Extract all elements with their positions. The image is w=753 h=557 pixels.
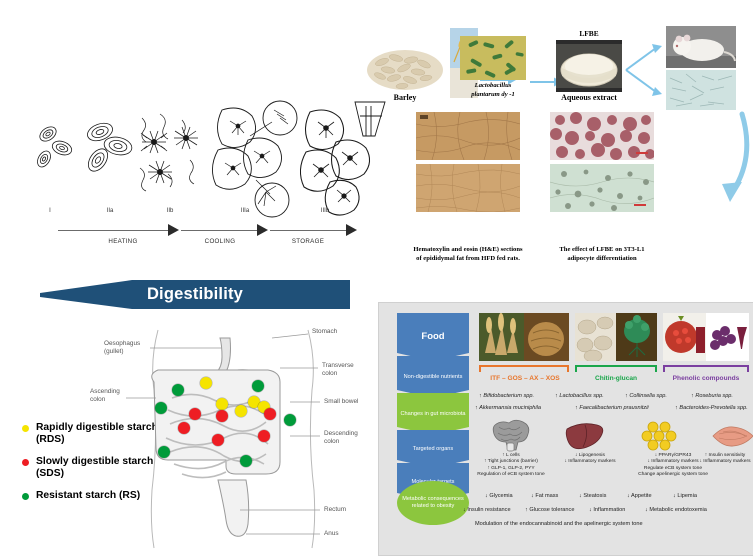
phenolic-food-image bbox=[663, 313, 749, 361]
barley-grains-photo bbox=[366, 30, 444, 92]
cascade-chevron-label-1: Non-digestible nutrients bbox=[397, 356, 469, 398]
muscle-glyph bbox=[711, 425, 753, 447]
microbiota-row1-item2: ↑ Lactobacillus spp. bbox=[555, 393, 604, 399]
microbiota-row2-item2: ↑ Faecalibacterium prausnitzii bbox=[575, 405, 649, 411]
label-stomach: Stomach bbox=[312, 328, 337, 336]
food-photo-itf bbox=[479, 313, 569, 361]
microbiota-row1-item4: ↑ Roseburia spp. bbox=[691, 393, 733, 399]
metabolic-row1-item3: ↓ Steatosis bbox=[579, 493, 606, 499]
starch-gelatinisation-diagram: I IIa IIb IIIa IIIb HEATING COOLING STOR… bbox=[0, 96, 390, 256]
starch-dot bbox=[158, 446, 170, 458]
mol-muscle-2: ↓ Inflammatory markers bbox=[679, 459, 753, 465]
bracket-chitin bbox=[575, 365, 657, 372]
rectum-shape bbox=[218, 480, 249, 536]
aqueous-extract-photo bbox=[556, 40, 622, 92]
caption-he-line1: Hematoxylin and eosin (H&E) sections bbox=[400, 246, 536, 254]
cascade-chevron-label-0: Food bbox=[397, 313, 469, 361]
group-title-phenolic: Phenolic compounds bbox=[657, 375, 753, 382]
adipocyte-differentiation-photo bbox=[550, 164, 654, 212]
rat-image bbox=[666, 26, 736, 68]
starch-dot bbox=[178, 422, 190, 434]
he-lfbe-image bbox=[416, 164, 520, 212]
starch-dot bbox=[189, 408, 201, 420]
metabolic-row1-item4: ↓ Appetite bbox=[627, 493, 652, 499]
heating-arrow-line bbox=[58, 230, 170, 231]
muscle-icon bbox=[711, 425, 753, 452]
starch-dot bbox=[284, 414, 296, 426]
barley-caption: Barley bbox=[366, 94, 444, 102]
oil-red-o-image bbox=[550, 112, 654, 160]
stage-label-IIIa: IIIa bbox=[230, 208, 260, 214]
cooling-arrow-line bbox=[181, 230, 259, 231]
caption-he-line2: of epididymal fat from HFD fed rats. bbox=[400, 255, 536, 263]
label-descending-colon: Descending colon bbox=[324, 430, 364, 445]
lactobacillus-image bbox=[460, 36, 526, 80]
metabolic-row2-item4: ↓ Metabolic endotoxemia bbox=[645, 507, 707, 513]
starch-dot bbox=[200, 377, 212, 389]
metabolic-row2-item2: ↑ Glucose tolerance bbox=[525, 507, 574, 513]
green-dot-icon bbox=[22, 493, 29, 500]
yellow-dot-icon bbox=[22, 425, 29, 432]
beaker-image bbox=[556, 40, 622, 92]
prebiotic-cascade-panel: FoodNon-digestible nutrientsChanges in g… bbox=[378, 302, 753, 556]
starch-dot bbox=[172, 384, 184, 396]
mol-adipose-4: Change apelinergic system tone bbox=[615, 472, 731, 478]
label-rectum: Rectum bbox=[324, 506, 346, 514]
red-dot-icon bbox=[22, 459, 29, 466]
label-ascending-colon: Ascending colon bbox=[90, 388, 126, 403]
cascade-chevron-2: Changes in gut microbiota bbox=[397, 393, 469, 435]
caption-lfbe-line1: The effect of LFBE on 3T3-L1 bbox=[540, 246, 664, 254]
stage-label-IIb: IIb bbox=[155, 208, 185, 214]
starch-dot bbox=[155, 402, 167, 414]
he-section-lfbe-photo bbox=[416, 164, 520, 212]
stage-label-I: I bbox=[35, 208, 65, 214]
digestibility-banner: Digestibility bbox=[40, 276, 350, 316]
lfbe-caption: LFBE bbox=[556, 30, 622, 38]
caption-lfbe-line2: adipocyte differentiation bbox=[540, 255, 664, 263]
bracket-itf bbox=[479, 365, 569, 372]
metabolic-row1-item1: ↓ Glycemia bbox=[485, 493, 513, 499]
intestine-glyph bbox=[489, 419, 533, 453]
adipocyte-image bbox=[550, 164, 654, 212]
microbiota-row2-item1: ↑ Akkermansia muciniphila bbox=[475, 405, 541, 411]
cascade-chevron-1: Non-digestible nutrients bbox=[397, 356, 469, 398]
microbiota-row1-item1: ↑ Bifidobacterium spp. bbox=[479, 393, 534, 399]
stage-label-IIIb: IIIb bbox=[310, 208, 340, 214]
molecular-targets-muscle: ↑ Insulin sensitivity ↓ Inflammatory mar… bbox=[679, 453, 753, 466]
process-arrow-row: HEATING COOLING STORAGE bbox=[58, 224, 358, 250]
bacteria-caption-line1: Lactobacillus bbox=[456, 82, 530, 90]
bracket-phenolic bbox=[663, 365, 749, 372]
preadipocyte-photo bbox=[666, 70, 736, 110]
heating-arrow-head bbox=[168, 224, 179, 236]
cascade-chevron-label-2: Changes in gut microbiota bbox=[397, 393, 469, 435]
storage-label: STORAGE bbox=[272, 238, 344, 245]
food-photo-chitin bbox=[575, 313, 657, 361]
cooling-arrow-head bbox=[257, 224, 268, 236]
starch-dot bbox=[216, 410, 228, 422]
liver-icon bbox=[565, 421, 605, 456]
microbiota-row2-item3: ↑ Bacteroides-Prevotella spp. bbox=[675, 405, 748, 411]
microbiota-row1-item3: ↑ Collinsella spp. bbox=[625, 393, 667, 399]
digestive-tract-diagram: Oesophagus (gullet) Stomach Transverse c… bbox=[112, 322, 377, 552]
metabolic-footer: Modulation of the endocannabinoid and th… bbox=[475, 521, 643, 527]
metabolic-row1-item2: ↓ Fat mass bbox=[531, 493, 558, 499]
digestibility-label: Digestibility bbox=[40, 285, 350, 304]
oil-red-o-photo bbox=[550, 112, 654, 160]
cascade-chevron-0: Food bbox=[397, 313, 469, 361]
food-photo-phenolic bbox=[663, 313, 749, 361]
he-hfd-image bbox=[416, 112, 520, 160]
label-small-bowel: Small bowel bbox=[324, 398, 358, 406]
label-anus: Anus bbox=[324, 530, 339, 538]
group-title-itf: ITF – GOS – AX – XOS bbox=[475, 375, 575, 382]
liver-glyph bbox=[565, 421, 605, 451]
adipose-icon bbox=[641, 419, 679, 456]
storage-arrow-line bbox=[270, 230, 348, 231]
rat-photo bbox=[666, 26, 736, 68]
storage-arrow-head bbox=[346, 224, 357, 236]
itf-food-image bbox=[479, 313, 569, 361]
preadipocyte-image bbox=[666, 70, 736, 110]
bacteria-caption-line2: plantarum dy -1 bbox=[456, 91, 530, 99]
starch-dot bbox=[258, 430, 270, 442]
metabolic-consequences-badge: Metabolic consequences related to obesit… bbox=[397, 481, 469, 525]
label-oesophagus: Oesophagus (gullet) bbox=[104, 340, 144, 355]
metabolic-row2-item3: ↓ Inflammation bbox=[589, 507, 625, 513]
metabolic-consequences-label: Metabolic consequences related to obesit… bbox=[397, 496, 469, 510]
heating-label: HEATING bbox=[88, 238, 158, 245]
label-transverse-colon: Transverse colon bbox=[322, 362, 360, 377]
adipose-glyph bbox=[641, 419, 679, 451]
branching-arrow-to-models bbox=[624, 42, 664, 98]
curved-arrow-to-histology bbox=[700, 110, 750, 220]
lfbe-workflow-panel: Barley bbox=[360, 14, 753, 299]
metabolic-row2-item1: ↓ Insulin resistance bbox=[463, 507, 511, 513]
he-section-hfd-photo bbox=[416, 112, 520, 160]
starch-dot bbox=[264, 408, 276, 420]
mol-intestine-4: Regulation of eCB system tone bbox=[453, 472, 569, 478]
group-title-chitin: Chitin-glucan bbox=[571, 375, 661, 382]
starch-dot bbox=[235, 405, 247, 417]
stage-label-IIa: IIa bbox=[95, 208, 125, 214]
metabolic-row1-item5: ↓ Lipemia bbox=[673, 493, 697, 499]
starch-dot bbox=[252, 380, 264, 392]
barley-grains-image bbox=[366, 30, 444, 92]
extract-caption: Aqueous extract bbox=[546, 94, 632, 102]
lactobacillus-micrograph bbox=[460, 36, 526, 80]
starch-dot bbox=[216, 398, 228, 410]
starch-dot bbox=[212, 434, 224, 446]
starch-dot bbox=[240, 455, 252, 467]
cooling-label: COOLING bbox=[184, 238, 256, 245]
chitin-food-image bbox=[575, 313, 657, 361]
